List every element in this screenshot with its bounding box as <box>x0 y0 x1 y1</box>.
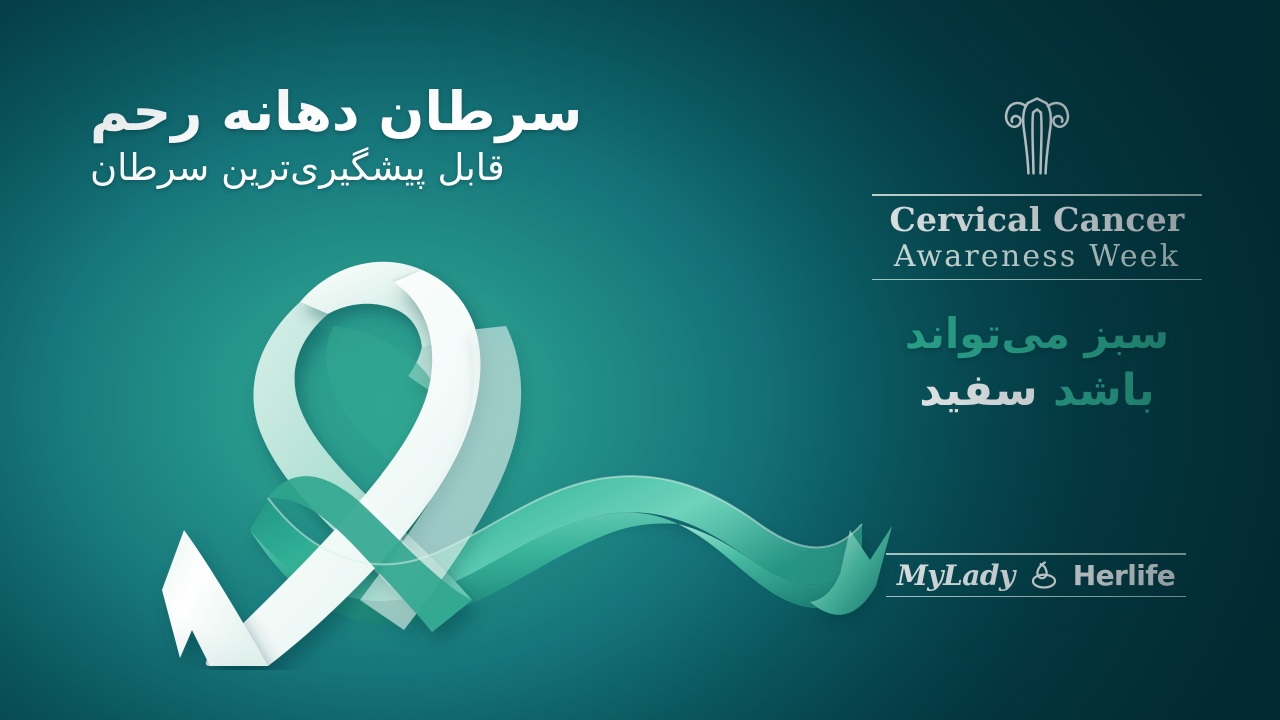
english-title: Cervical Cancer <box>872 196 1202 238</box>
divider-bottom <box>872 279 1202 281</box>
brand-mylady[interactable]: MyLady <box>897 559 1015 592</box>
persian-slogan-line-2: باشد سفید <box>872 362 1202 420</box>
persian-slogan: سبز می‌تواند باشد سفید <box>872 306 1202 420</box>
poster-canvas: سرطان دهانه رحم قابل پیشگیری‌ترین سرطان … <box>0 0 1280 720</box>
persian-slogan-word-sefid: سفید <box>919 365 1037 416</box>
headline-block: سرطان دهانه رحم قابل پیشگیری‌ترین سرطان <box>90 82 590 190</box>
persian-slogan-line-1: سبز می‌تواند <box>872 306 1202 361</box>
english-subtitle: Awareness Week <box>872 238 1202 279</box>
divider-top <box>872 194 1202 196</box>
uterus-icon <box>998 86 1076 178</box>
footer-logo-bar: MyLady Herlife <box>886 553 1186 597</box>
right-panel: Cervical Cancer Awareness Week سبز می‌تو… <box>872 86 1202 420</box>
page-subtitle: قابل پیشگیری‌ترین سرطان <box>90 147 590 190</box>
page-title: سرطان دهانه رحم <box>90 82 590 141</box>
logo-divider-top <box>886 553 1186 555</box>
leaf-swirl-icon <box>1027 559 1061 593</box>
persian-slogan-word-bashad: باشد <box>1053 365 1155 416</box>
logo-divider-bottom <box>886 596 1186 598</box>
brand-herlife[interactable]: Herlife <box>1073 559 1175 592</box>
ribbon-white-tail-tip <box>162 530 268 666</box>
brand-row: MyLady Herlife <box>886 555 1186 596</box>
awareness-ribbon <box>150 230 940 670</box>
